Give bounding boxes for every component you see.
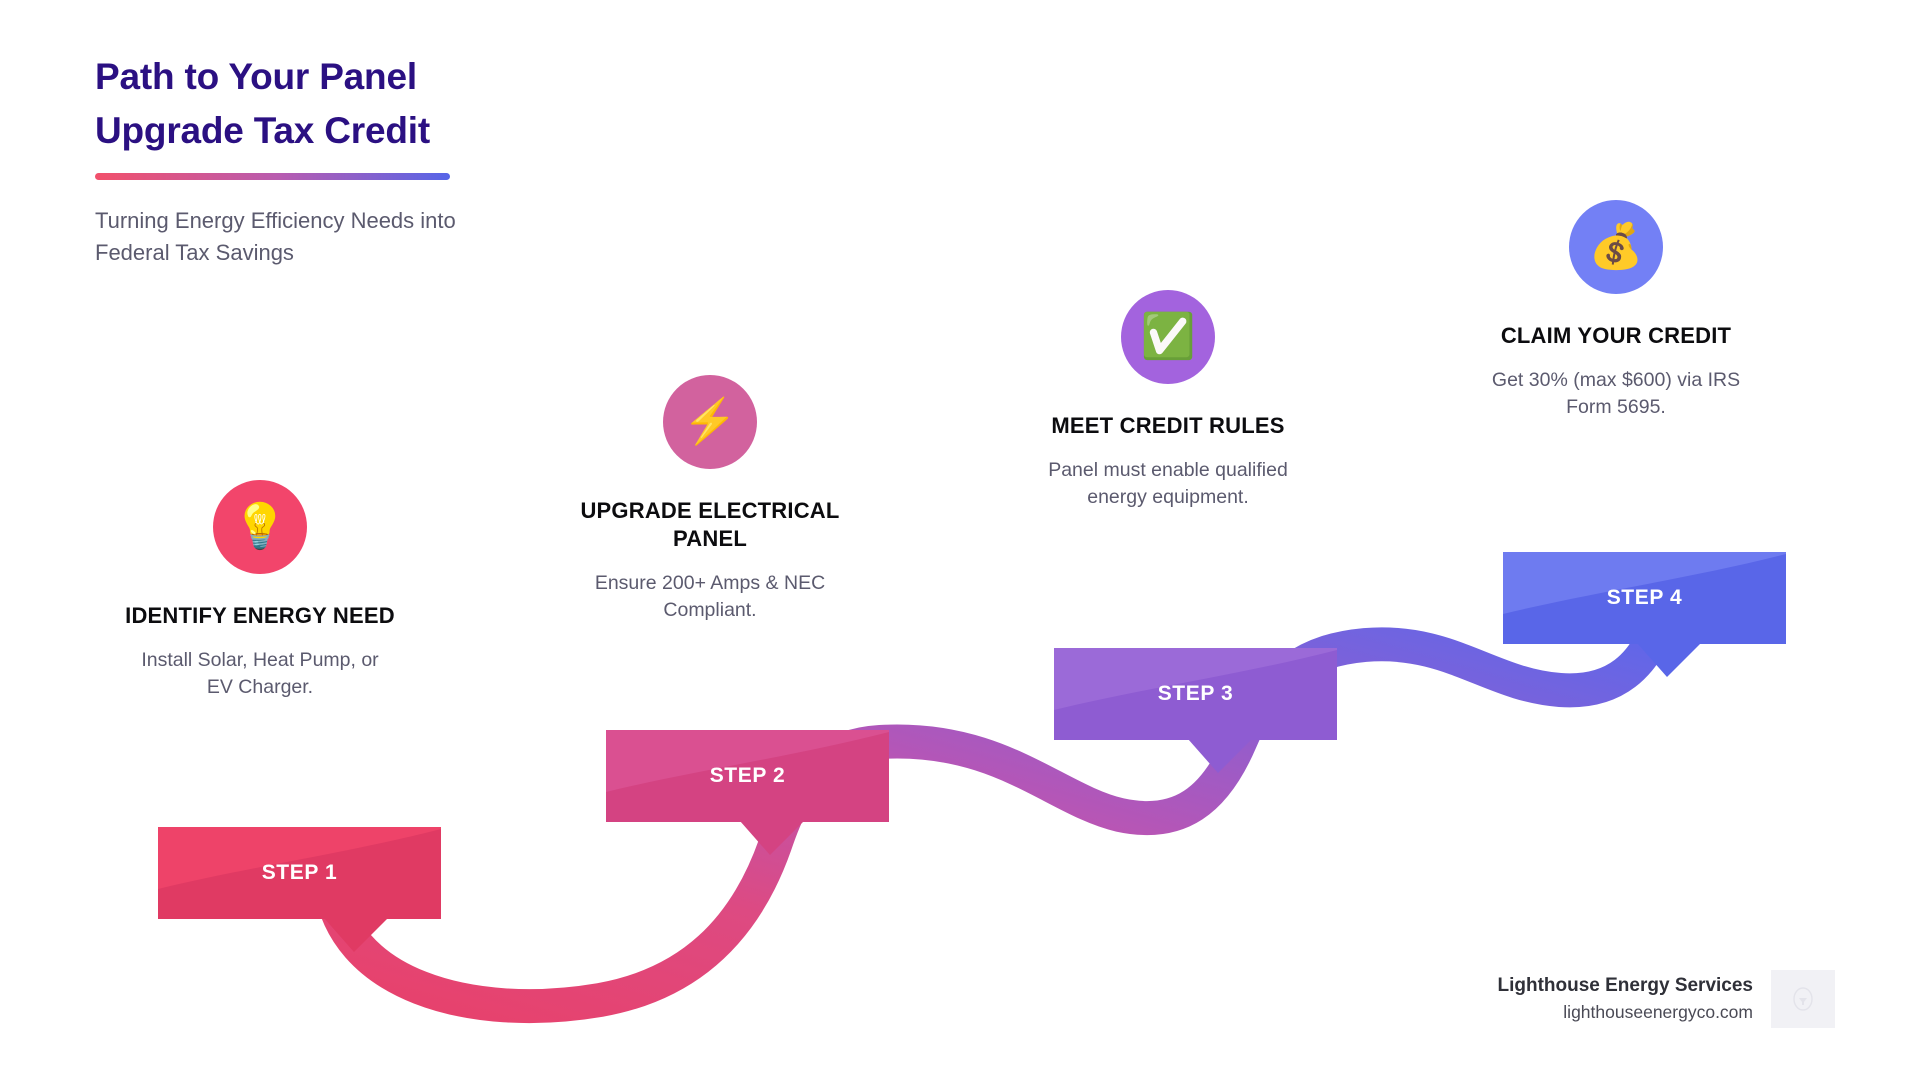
- step-3-title: MEET CREDIT RULES: [1018, 412, 1318, 440]
- step-3-description: Panel must enable qualified energy equip…: [1018, 457, 1318, 511]
- step-4-banner[interactable]: STEP 4: [1503, 552, 1786, 644]
- brand-url: lighthouseenergyco.com: [1497, 999, 1753, 1025]
- step-4-description: Get 30% (max $600) via IRS Form 5695.: [1466, 367, 1766, 421]
- step-2-description: Ensure 200+ Amps & NEC Compliant.: [560, 570, 860, 624]
- step-3: ✅ MEET CREDIT RULES Panel must enable qu…: [1018, 290, 1318, 511]
- step-3-banner-tail: [1188, 739, 1252, 773]
- check-mark-button-icon: ✅: [1121, 290, 1215, 384]
- brand-name: Lighthouse Energy Services: [1497, 973, 1753, 999]
- step-1-banner-tail: [324, 918, 388, 952]
- step-2: ⚡ UPGRADE ELECTRICAL PANEL Ensure 200+ A…: [560, 375, 860, 624]
- money-bag-icon: 💰: [1569, 200, 1663, 294]
- step-4: 💰 CLAIM YOUR CREDIT Get 30% (max $600) v…: [1466, 200, 1766, 421]
- footer-branding: Lighthouse Energy Services lighthouseene…: [1497, 970, 1835, 1028]
- step-2-title: UPGRADE ELECTRICAL PANEL: [560, 497, 860, 553]
- step-3-banner-label: STEP 3: [1054, 682, 1337, 706]
- footer-text: Lighthouse Energy Services lighthouseene…: [1497, 973, 1753, 1025]
- step-3-banner[interactable]: STEP 3: [1054, 648, 1337, 740]
- high-voltage-icon: ⚡: [663, 375, 757, 469]
- accent-bar: [95, 173, 450, 180]
- step-4-banner-label: STEP 4: [1503, 586, 1786, 610]
- step-1-title: IDENTIFY ENERGY NEED: [110, 602, 410, 630]
- step-1: 💡 IDENTIFY ENERGY NEED Install Solar, He…: [110, 480, 410, 701]
- light-bulb-icon: 💡: [213, 480, 307, 574]
- step-2-banner[interactable]: STEP 2: [606, 730, 889, 822]
- step-1-banner[interactable]: STEP 1: [158, 827, 441, 919]
- page-title: Path to Your Panel Upgrade Tax Credit: [95, 50, 615, 157]
- step-2-banner-label: STEP 2: [606, 764, 889, 788]
- header-block: Path to Your Panel Upgrade Tax Credit Tu…: [95, 50, 615, 268]
- step-2-banner-tail: [740, 821, 804, 855]
- step-4-banner-tail: [1637, 643, 1701, 677]
- step-4-title: CLAIM YOUR CREDIT: [1466, 322, 1766, 350]
- image-placeholder-icon: [1771, 970, 1835, 1028]
- step-1-banner-label: STEP 1: [158, 861, 441, 885]
- page-subtitle: Turning Energy Efficiency Needs into Fed…: [95, 205, 615, 267]
- step-1-description: Install Solar, Heat Pump, or EV Charger.: [110, 647, 410, 701]
